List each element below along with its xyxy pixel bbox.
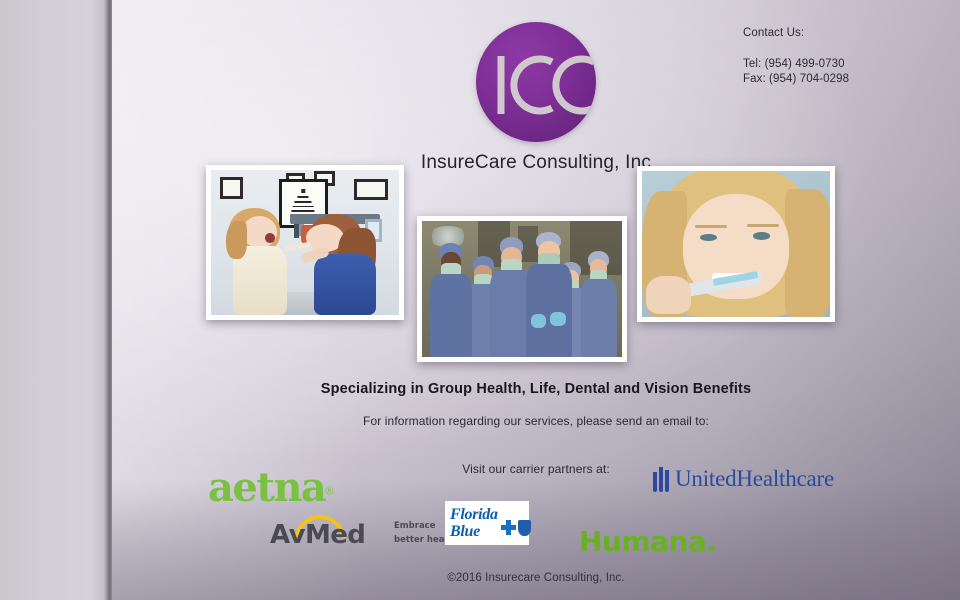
aetna-registered-mark: ®	[325, 486, 333, 498]
carrier-logo-avmed[interactable]: AvMed Embrace better health®	[270, 518, 463, 548]
footer-copyright: ©2016 Insurecare Consulting, Inc.	[112, 572, 960, 584]
photo-girl-brushing-teeth	[637, 166, 835, 322]
carrier-logo-humana[interactable]: Humana.	[579, 528, 716, 556]
brand-logo[interactable]: InsureCare Consulting, Inc	[112, 22, 960, 174]
carrier-logo-unitedhealthcare[interactable]: UnitedHealthcare	[653, 466, 834, 492]
page-stage: Contact Us: Tel: (954) 499-0730 Fax: (95…	[0, 0, 960, 600]
avmed-mark-icon: AvMed	[270, 518, 388, 548]
blue-cross-icon	[501, 520, 516, 535]
photo-pediatric-exam	[206, 165, 404, 320]
aetna-wordmark: aetna	[208, 464, 325, 511]
email-instruction-text: For information regarding our services, …	[112, 414, 960, 428]
carrier-logo-aetna[interactable]: aetna®	[208, 468, 333, 508]
website-surface: Contact Us: Tel: (954) 499-0730 Fax: (95…	[112, 0, 960, 600]
avmed-wordmark: AvMed	[270, 520, 365, 550]
unitedhealthcare-u-icon	[653, 466, 670, 492]
left-side-panel	[0, 0, 112, 600]
photo-surgical-team	[417, 216, 627, 362]
unitedhealthcare-wordmark: UnitedHealthcare	[675, 466, 834, 492]
carrier-logo-florida-blue[interactable]: Florida Blue	[445, 501, 529, 545]
icc-circle-logo-icon	[476, 22, 596, 142]
page-headline: Specializing in Group Health, Life, Dent…	[112, 381, 960, 397]
blue-shield-icon	[518, 520, 531, 536]
humana-wordmark: Humana.	[579, 525, 716, 558]
florida-blue-wordmark: Florida Blue	[450, 506, 498, 540]
florida-blue-badges	[501, 511, 531, 536]
